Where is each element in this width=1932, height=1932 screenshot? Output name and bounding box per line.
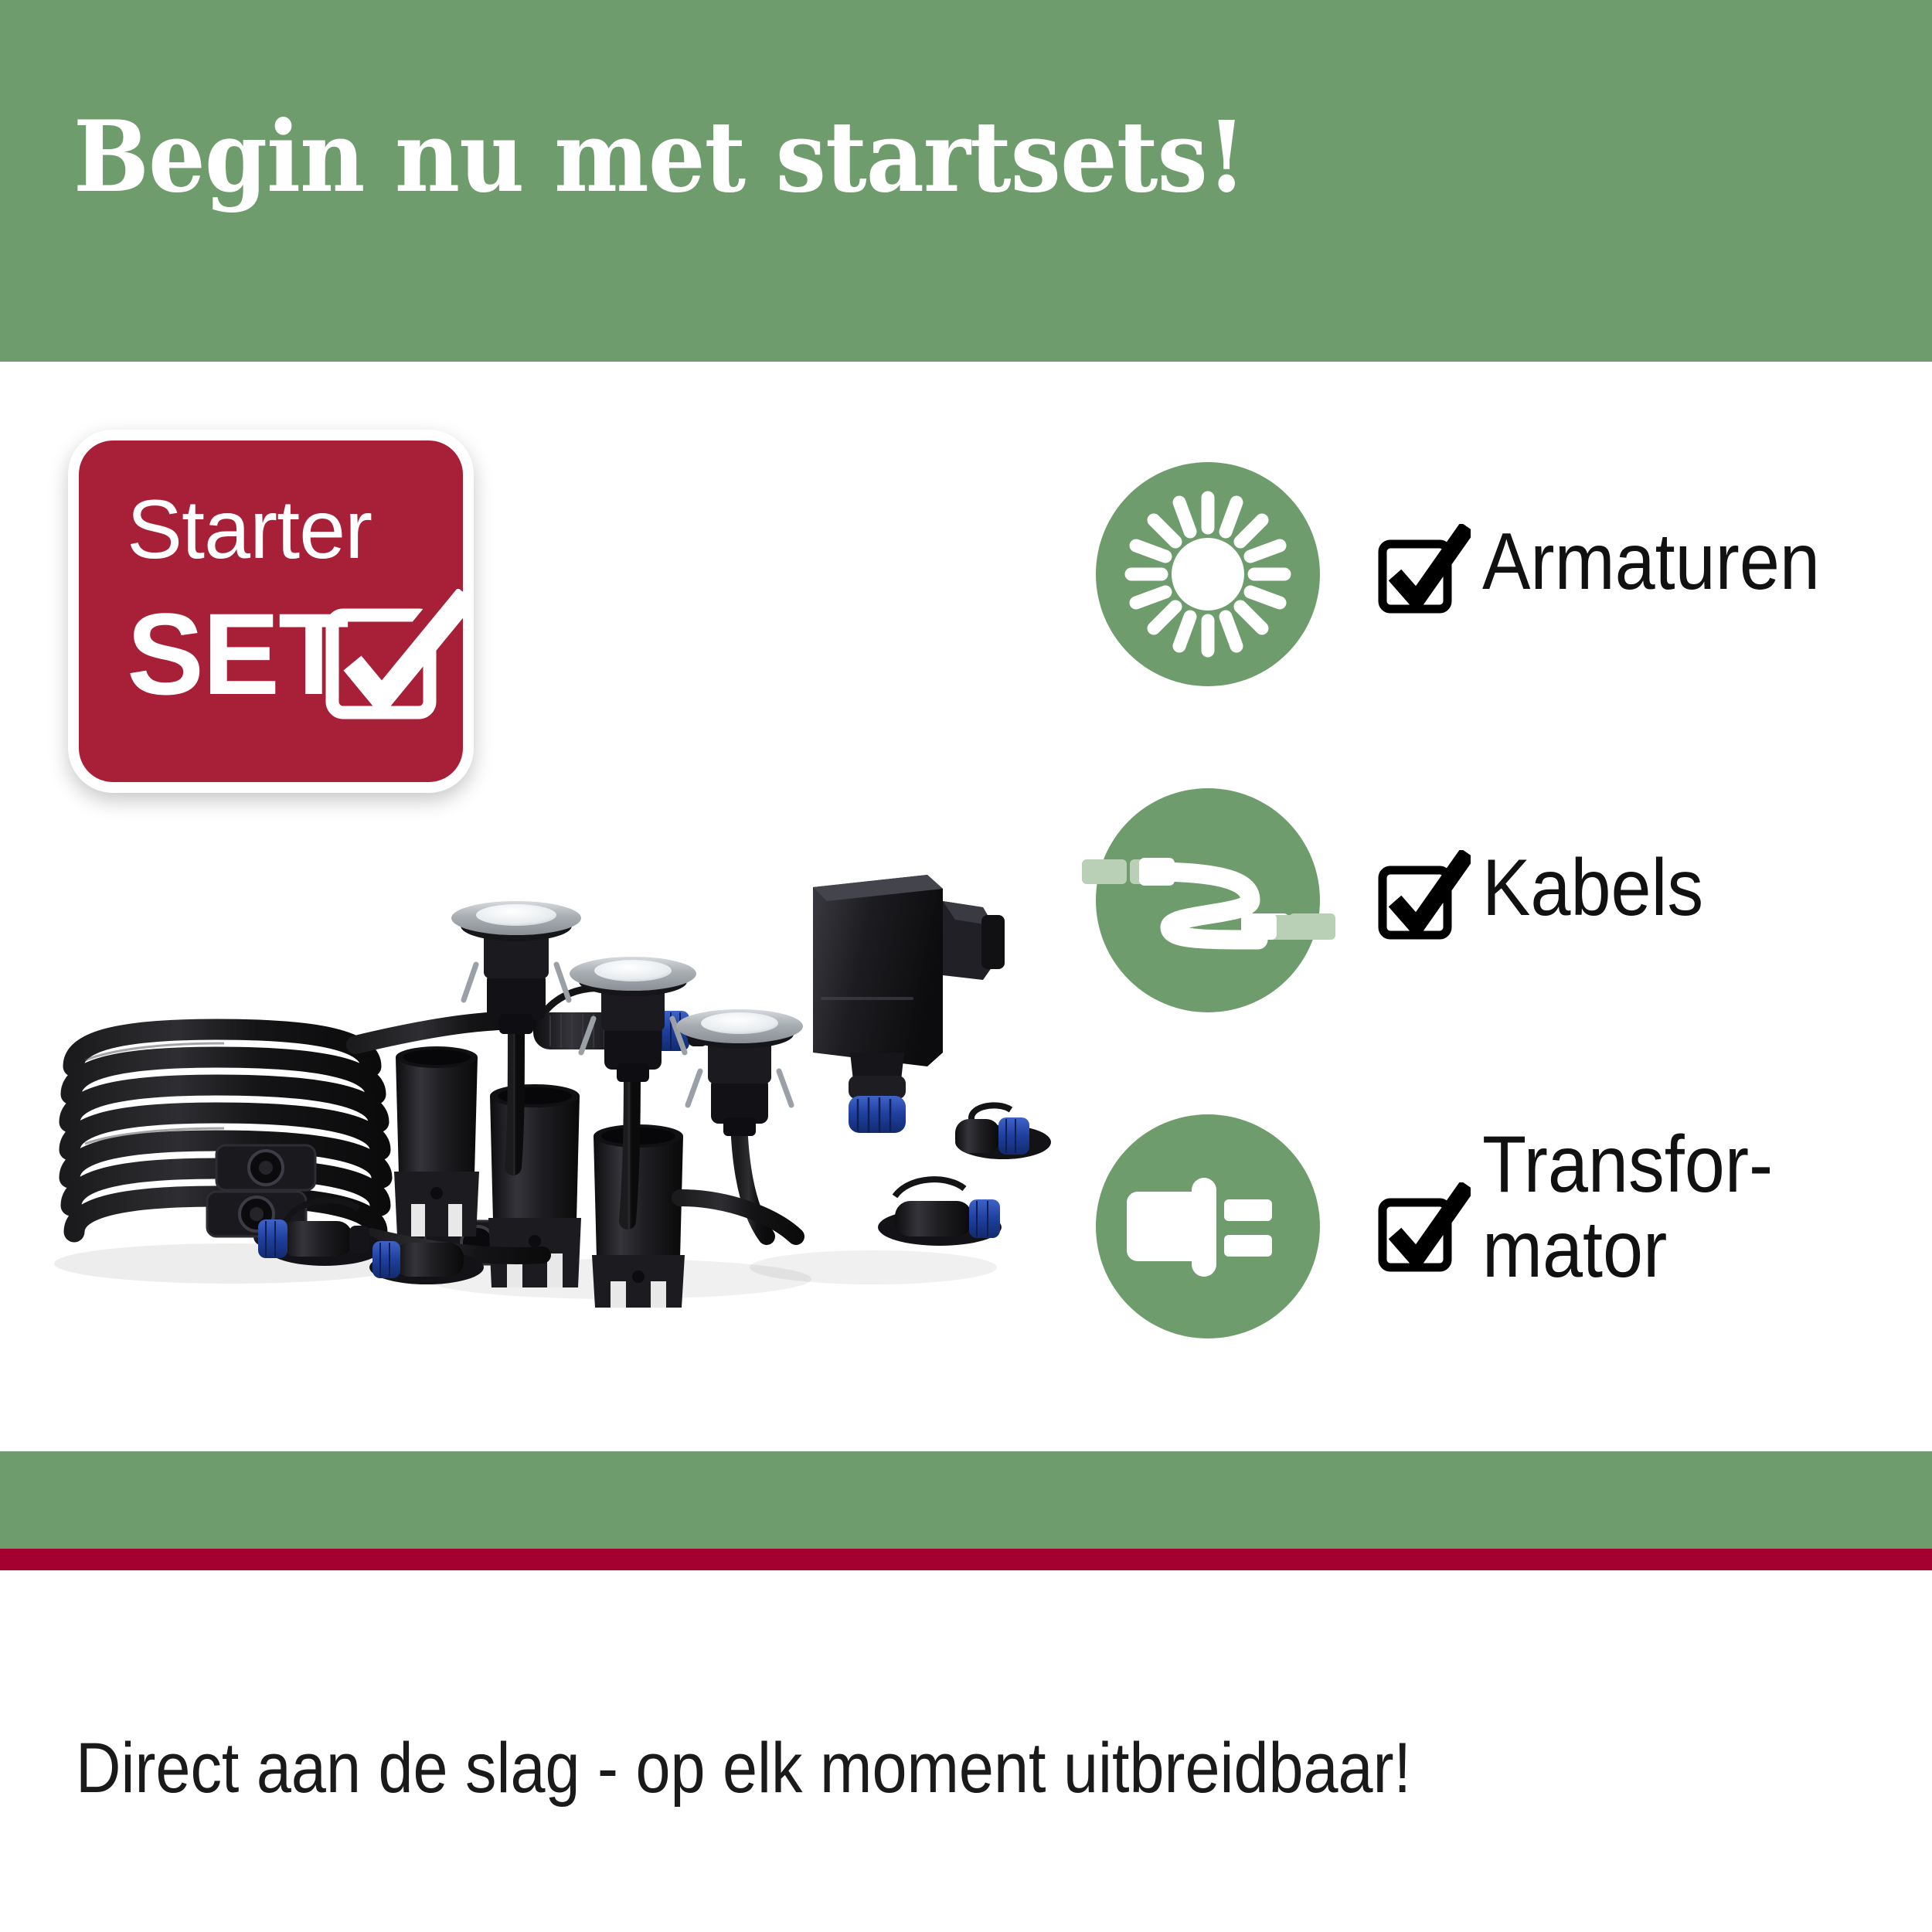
product-illustration: [31, 835, 1097, 1314]
checkbox-checked-icon: [1378, 850, 1471, 943]
poster-canvas: Begin nu met startsets! Starter SET: [0, 0, 1932, 1932]
feature-list: Armaturen: [1096, 462, 1900, 1338]
feature-item-transformator: Transfor- mator: [1096, 1114, 1900, 1338]
power-plug-icon: [1096, 1114, 1320, 1338]
badge-line-set: SET: [127, 587, 348, 721]
plug-connector: [955, 1105, 1051, 1159]
feature-label-transformator: Transfor- mator: [1482, 1122, 1773, 1292]
starter-set-badge: Starter SET: [68, 430, 474, 793]
footer-green-band: [0, 1451, 1932, 1549]
checkbox-checked-icon: [1378, 524, 1471, 617]
badge-line-starter: Starter: [127, 481, 372, 577]
ground-sleeve: [394, 1046, 479, 1236]
checkbox-checked-icon: [325, 589, 471, 728]
feature-label-armaturen: Armaturen: [1482, 519, 1820, 604]
header-band: Begin nu met startsets!: [0, 0, 1932, 362]
feature-label-kabels: Kabels: [1482, 845, 1703, 930]
feature-item-kabels: Kabels: [1096, 788, 1900, 1012]
plug-connector: [216, 1145, 315, 1190]
cable-icon: [1096, 788, 1320, 1012]
plug-connector: [878, 1179, 1002, 1246]
power-supply-transformer: [813, 875, 1005, 1133]
product-photo: [31, 835, 1097, 1314]
footer-red-band: [0, 1549, 1932, 1570]
sun-icon: [1096, 462, 1320, 686]
feature-item-armaturen: Armaturen: [1096, 462, 1900, 686]
checkbox-checked-icon: [1378, 1182, 1471, 1275]
footer-tagline: Direct aan de slag - op elk moment uitbr…: [76, 1728, 1411, 1809]
page-title: Begin nu met startsets!: [73, 108, 1246, 206]
